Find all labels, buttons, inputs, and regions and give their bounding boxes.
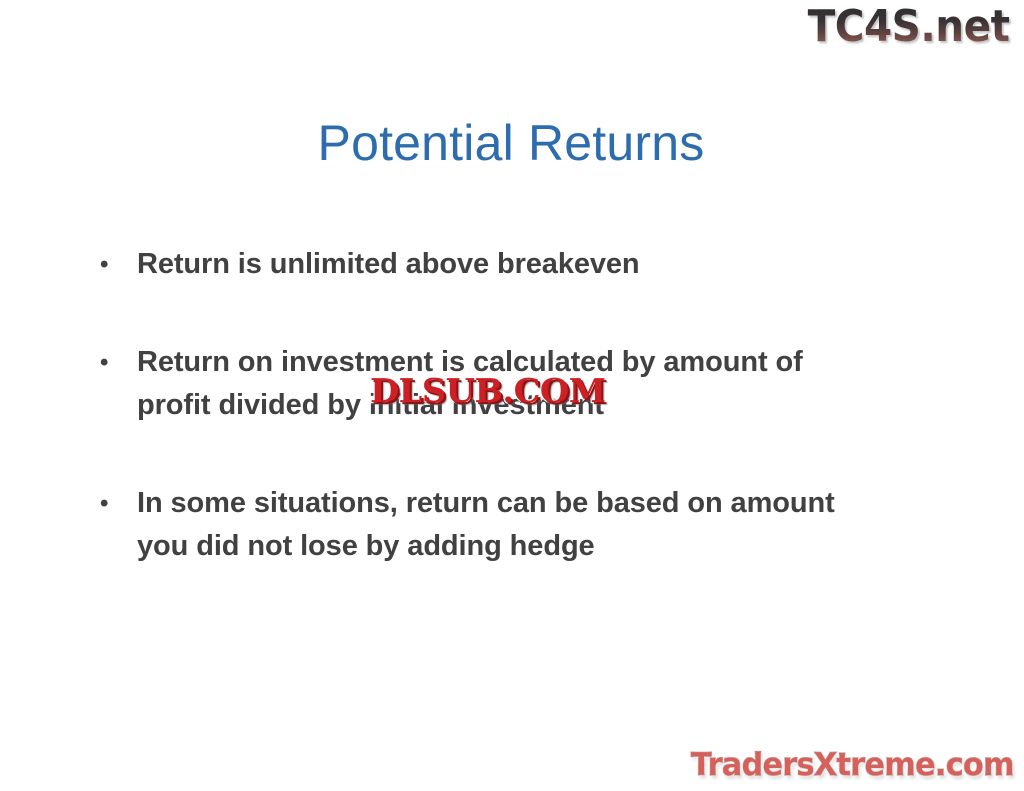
- list-item-text: Return is unlimited above breakeven: [137, 243, 927, 286]
- page-title-text: Potential Returns: [318, 112, 705, 174]
- bullet-point-icon: •: [100, 341, 137, 384]
- list-item-line: you did not lose by adding hedge: [137, 525, 927, 568]
- tradersxtreme-footer-logo: TradersXtreme.com: [691, 745, 1014, 785]
- dlsub-watermark: DLSUB.COM: [370, 373, 605, 409]
- bullet-point-icon: •: [100, 243, 137, 286]
- tc4s-brand-logo: TC4S.net: [808, 2, 1010, 52]
- page-title: Potential Returns: [0, 112, 1024, 174]
- list-item: • Return is unlimited above breakeven: [100, 243, 940, 286]
- list-item-line: Return is unlimited above breakeven: [137, 243, 927, 286]
- list-item-text: In some situations, return can be based …: [137, 482, 927, 568]
- slide-canvas: TC4S.net Potential Returns • Return is u…: [0, 0, 1024, 791]
- list-item-line: In some situations, return can be based …: [137, 482, 927, 525]
- bullet-point-icon: •: [100, 482, 137, 525]
- list-item: • In some situations, return can be base…: [100, 482, 940, 568]
